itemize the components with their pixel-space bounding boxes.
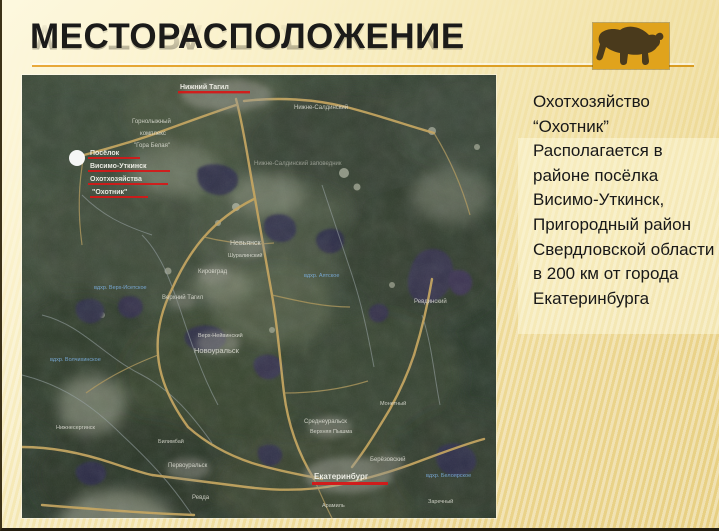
svg-text:Невьянск: Невьянск bbox=[230, 240, 261, 247]
svg-text:Верхний Тагил: Верхний Тагил bbox=[162, 294, 204, 301]
site-marker bbox=[69, 150, 85, 166]
svg-text:Шуралинский: Шуралинский bbox=[228, 252, 262, 259]
svg-text:Заречный: Заречный bbox=[428, 498, 453, 505]
page-title: МЕСТОРАСПОЛОЖЕНИЕ bbox=[30, 17, 590, 57]
location-map[interactable]: Нижний Тагил Посёлок Висимо-Уткинск Охот… bbox=[22, 75, 496, 518]
svg-text:Нижне-Салдинский: Нижне-Салдинский bbox=[294, 104, 348, 111]
svg-text:Екатеринбург: Екатеринбург bbox=[314, 472, 369, 481]
svg-text:Посёлок: Посёлок bbox=[90, 150, 120, 157]
svg-text:Кировград: Кировград bbox=[198, 269, 228, 275]
svg-text:вдхр. Волчихинское: вдхр. Волчихинское bbox=[50, 357, 101, 363]
svg-text:Среднеуральск: Среднеуральск bbox=[304, 419, 347, 425]
svg-text:"Охотник": "Охотник" bbox=[92, 189, 127, 196]
svg-text:Арамиль: Арамиль bbox=[322, 503, 345, 509]
svg-text:Горнолыжный: Горнолыжный bbox=[132, 118, 171, 125]
presentation-slide: МЕСТОРАСПОЛОЖЕНИЕ МЕСТОРАСПОЛОЖЕНИЕ bbox=[0, 0, 719, 531]
svg-text:Билимбай: Билимбай bbox=[158, 438, 184, 445]
svg-text:Берёзовский: Берёзовский bbox=[370, 456, 405, 463]
svg-text:Нижне-Салдинский заповедник: Нижне-Салдинский заповедник bbox=[254, 160, 342, 167]
svg-text:вдхр. Белоярское: вдхр. Белоярское bbox=[426, 473, 471, 479]
svg-text:Новоуральск: Новоуральск bbox=[194, 346, 240, 355]
svg-text:вдхр. Аятское: вдхр. Аятское bbox=[304, 273, 339, 279]
bear-icon bbox=[593, 23, 669, 69]
svg-text:Охотхозяйства: Охотхозяйства bbox=[90, 175, 142, 183]
body-paragraph: Охотхозяйство “Охотник” Располагается в … bbox=[533, 90, 718, 311]
svg-text:Висимо-Уткинск: Висимо-Уткинск bbox=[90, 163, 147, 170]
svg-text:вдхр. Верх-Исетское: вдхр. Верх-Исетское bbox=[94, 285, 147, 291]
svg-text:комплекс: комплекс bbox=[140, 131, 166, 137]
svg-text:Верхняя Пышма: Верхняя Пышма bbox=[310, 429, 353, 435]
svg-text:Первоуральск: Первоуральск bbox=[168, 463, 208, 469]
svg-text:Ревда: Ревда bbox=[192, 495, 210, 501]
svg-text:Монетный: Монетный bbox=[380, 400, 406, 407]
bear-logo bbox=[593, 23, 669, 69]
svg-text:Ревдинский: Ревдинский bbox=[414, 298, 447, 305]
svg-text:"Гора Белая": "Гора Белая" bbox=[134, 143, 170, 149]
svg-text:Нижнесергинск: Нижнесергинск bbox=[56, 425, 96, 431]
svg-text:Нижний Тагил: Нижний Тагил bbox=[180, 83, 229, 91]
svg-text:Верх-Нейвинский: Верх-Нейвинский bbox=[198, 332, 243, 339]
